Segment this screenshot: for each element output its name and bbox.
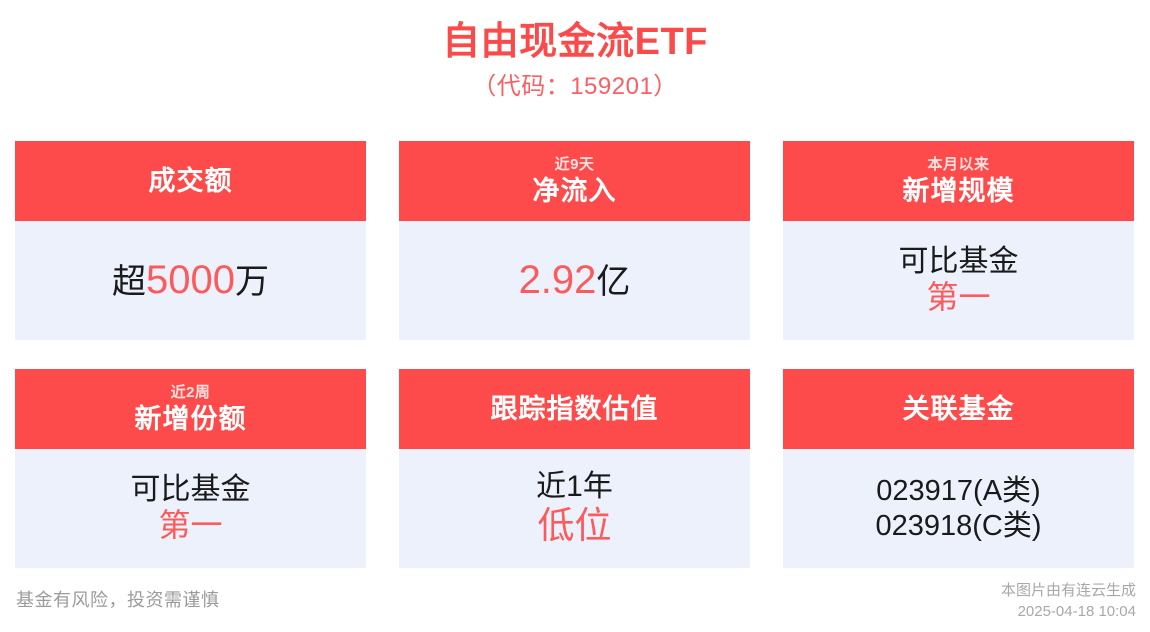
card-header-sublabel: 近2周	[171, 383, 211, 402]
generated-timestamp: 2025-04-18 10:04	[1001, 601, 1136, 622]
card-body-related-funds: 023917(A类) 023918(C类)	[783, 449, 1134, 568]
page-header: 自由现金流ETF （代码：159201）	[0, 0, 1150, 104]
metric-valuation-level: 低位	[538, 504, 612, 548]
metric-card-net-inflow[interactable]: 近9天 净流入 2.92亿	[399, 141, 750, 340]
card-body-net-inflow: 2.92亿	[399, 221, 750, 340]
metric-label-comparable-funds: 可比基金	[899, 244, 1019, 279]
metric-label-period: 近1年	[536, 469, 613, 504]
card-body-new-shares: 可比基金 第一	[15, 449, 366, 568]
card-header-sublabel: 本月以来	[927, 155, 989, 174]
card-body-new-scale: 可比基金 第一	[783, 221, 1134, 340]
card-body-index-valuation: 近1年 低位	[399, 449, 750, 568]
card-header-title: 成交额	[149, 164, 233, 198]
page-title: 自由现金流ETF	[0, 18, 1150, 66]
metric-label-comparable-funds: 可比基金	[131, 472, 251, 507]
card-header-title: 新增规模	[903, 174, 1015, 208]
value-suffix: 万	[235, 263, 269, 301]
card-header-index-valuation: 跟踪指数估值	[399, 369, 750, 449]
card-header-title: 净流入	[533, 174, 617, 208]
metric-value-net-inflow: 2.92亿	[519, 257, 631, 304]
metric-card-related-funds[interactable]: 关联基金 023917(A类) 023918(C类)	[783, 369, 1134, 568]
card-header-title: 新增份额	[135, 402, 247, 436]
card-header-sublabel: 近9天	[555, 155, 595, 174]
metric-rank-value: 第一	[158, 507, 222, 545]
metric-rank-value: 第一	[926, 279, 990, 317]
fund-code-class-a: 023917(A类)	[876, 474, 1040, 508]
generator-label: 本图片由有连云生成	[1001, 580, 1136, 601]
card-header-net-inflow: 近9天 净流入	[399, 141, 750, 221]
card-body-turnover: 超5000万	[15, 221, 366, 340]
value-accent: 2.92	[519, 258, 597, 302]
fund-code-class-c: 023918(C类)	[875, 509, 1041, 543]
card-header-title: 关联基金	[903, 392, 1015, 426]
metric-card-new-scale[interactable]: 本月以来 新增规模 可比基金 第一	[783, 141, 1134, 340]
page-subtitle-fund-code: （代码：159201）	[0, 70, 1150, 104]
metric-card-index-valuation[interactable]: 跟踪指数估值 近1年 低位	[399, 369, 750, 568]
card-header-new-scale: 本月以来 新增规模	[783, 141, 1134, 221]
value-suffix: 亿	[596, 263, 630, 301]
card-header-related-funds: 关联基金	[783, 369, 1134, 449]
metric-value-turnover: 超5000万	[112, 257, 269, 304]
metric-card-new-shares[interactable]: 近2周 新增份额 可比基金 第一	[15, 369, 366, 568]
metric-card-grid: 成交额 超5000万 近9天 净流入 2.92亿 本月以来 新增规模 可比基金 …	[15, 141, 1135, 568]
value-prefix: 超	[112, 263, 146, 301]
card-header-new-shares: 近2周 新增份额	[15, 369, 366, 449]
value-accent: 5000	[146, 258, 235, 302]
card-header-turnover: 成交额	[15, 141, 366, 221]
risk-disclaimer: 基金有风险，投资需谨慎	[16, 586, 220, 612]
metric-card-turnover[interactable]: 成交额 超5000万	[15, 141, 366, 340]
card-header-title: 跟踪指数估值	[491, 392, 659, 426]
footer-attribution: 本图片由有连云生成 2025-04-18 10:04	[1001, 580, 1136, 622]
